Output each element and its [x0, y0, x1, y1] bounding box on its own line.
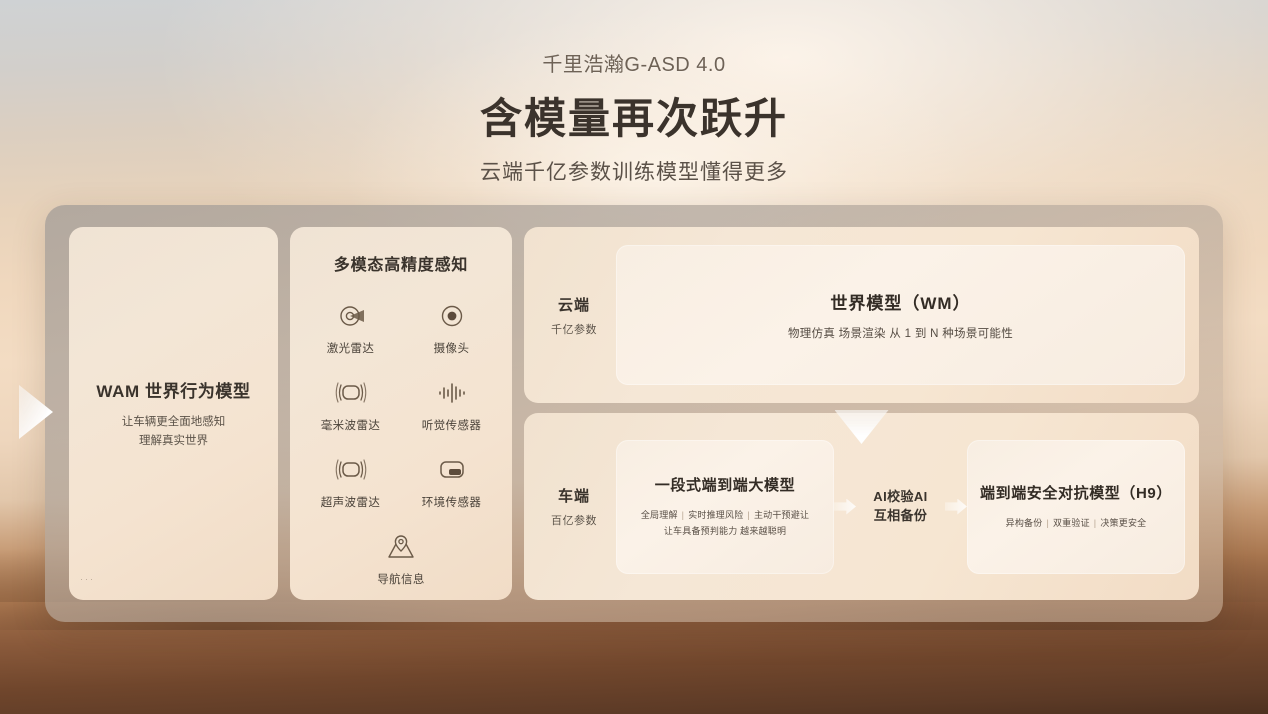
sensor-item-environment: 环境传感器 — [406, 455, 498, 510]
car-model-flow: 一段式端到端大模型 全局理解|实时推理风险|主动干预避让 让车具备预判能力 越来… — [616, 440, 1199, 574]
sensor-item-navigation: 导航信息 — [355, 532, 447, 587]
architecture-diagram-frame: WAM 世界行为模型 让车辆更全面地感知 理解真实世界 ··· 多模态高精度感知… — [45, 205, 1223, 622]
cloud-label-sub: 千亿参数 — [532, 321, 616, 337]
wam-subtitle-line1: 让车辆更全面地感知 — [122, 413, 226, 432]
panel-sensors: 多模态高精度感知 激光雷达 — [290, 227, 512, 600]
audio-sensor-icon — [436, 378, 468, 408]
world-model-title: 世界模型（WM） — [830, 289, 970, 314]
ai-note-line1: AI校验AI — [856, 488, 945, 507]
arrow-right-small-icon-2 — [945, 499, 967, 515]
wam-corner-dots: ··· — [80, 574, 95, 584]
sensors-title: 多模态高精度感知 — [334, 251, 468, 275]
sensor-label: 毫米波雷达 — [321, 417, 381, 433]
sensor-item-lidar: 激光雷达 — [305, 301, 397, 356]
h9-tag-1: 异构备份 — [1006, 518, 1043, 528]
e2e-tag-1: 全局理解 — [641, 510, 678, 520]
world-model-subtitle: 物理仿真 场景渲染 从 1 到 N 种场景可能性 — [788, 325, 1013, 341]
ai-cross-check-note: AI校验AI 互相备份 — [856, 488, 945, 526]
ultrasonic-radar-icon — [334, 455, 368, 485]
e2e-sub-line2: 让车具备预判能力 越来越聪明 — [641, 524, 809, 539]
sensor-label: 听觉传感器 — [422, 417, 482, 433]
cloud-side-label: 云端 千亿参数 — [524, 294, 616, 337]
wam-title: WAM 世界行为模型 — [96, 377, 250, 402]
sensor-item-audio: 听觉传感器 — [406, 378, 498, 433]
e2e-sub-line1: 全局理解|实时推理风险|主动干预避让 — [641, 508, 809, 523]
sensor-label: 环境传感器 — [422, 494, 482, 510]
card-h9-safety-model: 端到端安全对抗模型（H9） 异构备份|双重验证|决策更安全 — [967, 440, 1185, 574]
card-end-to-end-model: 一段式端到端大模型 全局理解|实时推理风险|主动干预避让 让车具备预判能力 越来… — [616, 440, 834, 574]
e2e-tag-3: 主动干预避让 — [754, 510, 809, 520]
e2e-subtitle: 全局理解|实时推理风险|主动干预避让 让车具备预判能力 越来越聪明 — [641, 508, 809, 539]
sensor-label: 激光雷达 — [327, 340, 375, 356]
row-cloud: 云端 千亿参数 世界模型（WM） 物理仿真 场景渲染 从 1 到 N 种场景可能… — [524, 227, 1199, 403]
sensor-grid: 激光雷达 摄像头 — [300, 301, 502, 587]
navigation-map-pin-icon — [385, 532, 417, 562]
row-car: 车端 百亿参数 一段式端到端大模型 全局理解|实时推理风险|主动干预避让 让车具… — [524, 413, 1199, 600]
wam-subtitle-line2: 理解真实世界 — [122, 432, 226, 451]
wam-subtitle: 让车辆更全面地感知 理解真实世界 — [122, 413, 226, 451]
car-label-title: 车端 — [532, 485, 616, 506]
car-side-label: 车端 百亿参数 — [524, 485, 616, 528]
page-title: 含模量再次跃升 — [0, 85, 1268, 146]
ai-note-line2: 互相备份 — [856, 507, 945, 526]
separator: | — [682, 510, 685, 520]
arrow-right-icon — [19, 385, 53, 439]
h9-title: 端到端安全对抗模型（H9） — [980, 482, 1172, 503]
separator: | — [1046, 518, 1049, 528]
sensor-label: 超声波雷达 — [321, 494, 381, 510]
mmwave-radar-icon — [334, 378, 368, 408]
product-eyebrow: 千里浩瀚G-ASD 4.0 — [0, 48, 1268, 77]
separator: | — [1094, 518, 1097, 528]
page-header: 千里浩瀚G-ASD 4.0 含模量再次跃升 云端千亿参数训练模型懂得更多 — [0, 48, 1268, 186]
sensor-label: 导航信息 — [377, 571, 425, 587]
sensor-item-ultrasonic-radar: 超声波雷达 — [305, 455, 397, 510]
cloud-label-title: 云端 — [532, 294, 616, 315]
h9-tag-3: 决策更安全 — [1100, 518, 1146, 528]
camera-icon — [438, 301, 466, 331]
separator: | — [747, 510, 750, 520]
h9-subtitle: 异构备份|双重验证|决策更安全 — [1006, 516, 1147, 531]
environment-sensor-icon — [436, 455, 468, 485]
arrow-right-small-icon-1 — [834, 499, 856, 515]
h9-tag-2: 双重验证 — [1053, 518, 1090, 528]
sensor-label: 摄像头 — [434, 340, 470, 356]
page-subtitle: 云端千亿参数训练模型懂得更多 — [0, 156, 1268, 186]
card-world-model: 世界模型（WM） 物理仿真 场景渲染 从 1 到 N 种场景可能性 — [616, 245, 1185, 385]
e2e-tag-2: 实时推理风险 — [688, 510, 743, 520]
sensor-item-camera: 摄像头 — [406, 301, 498, 356]
panel-model-stack: 云端 千亿参数 世界模型（WM） 物理仿真 场景渲染 从 1 到 N 种场景可能… — [524, 227, 1199, 600]
car-label-sub: 百亿参数 — [532, 512, 616, 528]
panel-wam: WAM 世界行为模型 让车辆更全面地感知 理解真实世界 ··· — [69, 227, 278, 600]
sensor-item-mmwave-radar: 毫米波雷达 — [305, 378, 397, 433]
e2e-title: 一段式端到端大模型 — [655, 474, 795, 495]
lidar-icon — [337, 301, 365, 331]
